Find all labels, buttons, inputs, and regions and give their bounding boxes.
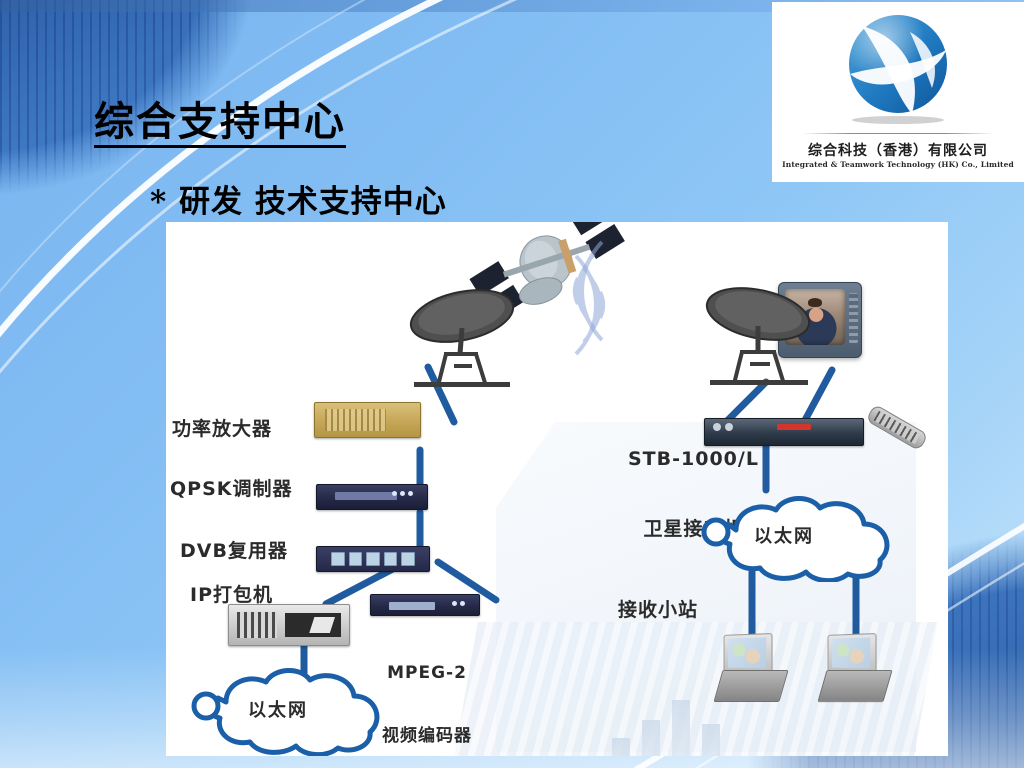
satellite-receiver-stb — [704, 418, 864, 446]
label-qpsk-modulator: QPSK调制器 — [170, 478, 293, 501]
qpsk-modulator-unit — [316, 484, 428, 510]
company-logo-card: 综合科技（香港）有限公司 Integrated & Teamwork Techn… — [772, 2, 1024, 182]
company-name-cn: 综合科技（香港）有限公司 — [772, 140, 1024, 160]
page-title: 综合支持中心 — [94, 101, 346, 148]
stb-display — [777, 424, 811, 430]
encoder-display-strip — [389, 602, 435, 610]
modulator-display-strip — [335, 492, 397, 500]
ip-packager-unit — [228, 604, 350, 646]
mpeg2-encoder-unit — [370, 594, 480, 616]
presentation-slide: 综合支持中心 * 研发 技术支持中心 综合科技（香 — [0, 0, 1024, 768]
uplink-dish-antenna — [398, 282, 528, 397]
amplifier-vent — [325, 409, 386, 431]
label-satellite-receiver-line1: STB-1000/L — [628, 448, 759, 471]
encoder-leds — [452, 601, 465, 606]
stb-knobs — [713, 423, 733, 431]
workstation-pc-2 — [822, 634, 888, 702]
pc1-screen — [728, 637, 766, 668]
ip-packager-panel — [285, 613, 341, 637]
multiplexer-cards — [331, 552, 415, 566]
label-cloud-right: 以太网 — [754, 522, 814, 548]
label-dvb-multiplexer: DVB复用器 — [180, 540, 288, 563]
page-subtitle: * 研发 技术支持中心 — [150, 176, 447, 221]
pc2-screen — [832, 637, 870, 668]
modulator-leds — [392, 491, 413, 496]
dvb-multiplexer-unit — [316, 546, 430, 572]
label-cloud-left: 以太网 — [248, 696, 308, 722]
logo-divider — [802, 133, 994, 134]
workstation-pc-1 — [718, 634, 784, 702]
globe-logo-icon — [828, 10, 968, 128]
system-diagram-image: 功率放大器 QPSK调制器 DVB复用器 IP打包机 MPEG-2 视频编码器 … — [166, 222, 948, 756]
label-power-amplifier: 功率放大器 — [172, 418, 272, 441]
ip-packager-ports — [237, 612, 277, 638]
pc1-tower — [713, 670, 788, 702]
label-earth-station: 接收小站 — [618, 599, 698, 622]
pc2-tower — [817, 670, 892, 702]
company-name-en: Integrated & Teamwork Technology (HK) Co… — [772, 160, 1024, 169]
tv-control-panel — [849, 293, 858, 343]
downlink-dish-antenna — [696, 280, 826, 395]
